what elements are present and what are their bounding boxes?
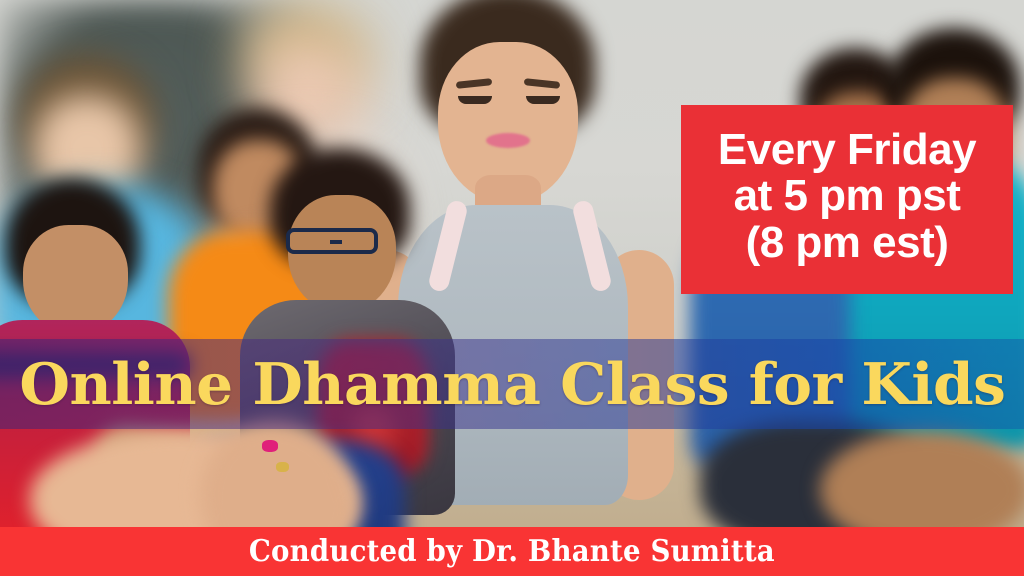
poster: Every Friday at 5 pm pst (8 pm est) Onli… [0, 0, 1024, 576]
toddler-face [23, 225, 128, 335]
fingernail-gold [276, 462, 289, 472]
credit-text: Conducted by Dr. Bhante Sumitta [249, 537, 775, 567]
eyeglasses-icon [286, 228, 378, 254]
schedule-line-2: at 5 pm pst [734, 173, 961, 220]
center-girl-lips [486, 133, 530, 148]
center-girl-eye-right [526, 96, 560, 104]
schedule-line-3: (8 pm est) [746, 220, 949, 267]
schedule-callout: Every Friday at 5 pm pst (8 pm est) [681, 105, 1013, 294]
boy-glasses-face [288, 195, 396, 313]
center-girl-eye-left [458, 96, 492, 104]
title-band: Online Dhamma Class for Kids [0, 339, 1024, 429]
credit-band: Conducted by Dr. Bhante Sumitta [0, 527, 1024, 576]
page-title: Online Dhamma Class for Kids [19, 356, 1005, 413]
schedule-line-1: Every Friday [718, 127, 976, 174]
fingernail-pink [262, 440, 278, 452]
